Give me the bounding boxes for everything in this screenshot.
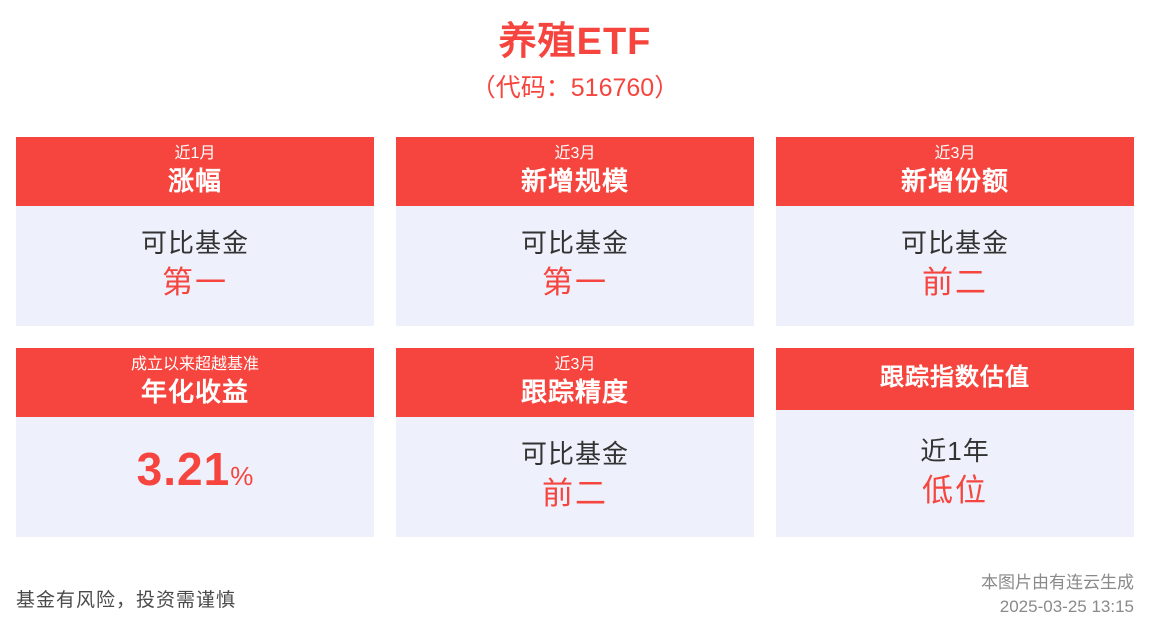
card-body-value: 前二 (396, 473, 754, 515)
card-header: 成立以来超越基准 年化收益 (16, 348, 374, 417)
generated-timestamp: 2025-03-25 13:15 (981, 595, 1134, 619)
card-body: 可比基金 第一 (396, 206, 754, 326)
card-header-metric: 涨幅 (16, 165, 374, 197)
etf-info-card: 养殖ETF （代码：516760） 近1月 涨幅 可比基金 第一 近3月 新增规… (0, 0, 1150, 632)
card-header-period: 成立以来超越基准 (16, 354, 374, 376)
card-header: 近3月 跟踪精度 (396, 348, 754, 417)
metric-card-monthly-gain: 近1月 涨幅 可比基金 第一 (16, 137, 374, 326)
card-body: 可比基金 第一 (16, 206, 374, 326)
card-body-percent: 3.21% (16, 439, 374, 511)
card-header-metric: 新增份额 (776, 165, 1134, 197)
card-header: 跟踪指数估值 (776, 348, 1134, 410)
card-header-metric: 跟踪指数估值 (776, 361, 1134, 395)
card-body-number: 3.21 (137, 443, 231, 495)
card-body-label: 近1年 (776, 432, 1134, 470)
card-header-period: 近3月 (396, 354, 754, 376)
card-body: 可比基金 前二 (396, 417, 754, 537)
card-body-label: 可比基金 (16, 224, 374, 262)
card-body-label: 可比基金 (776, 224, 1134, 262)
metric-card-new-scale: 近3月 新增规模 可比基金 第一 (396, 137, 754, 326)
footer-source-block: 本图片由有连云生成 2025-03-25 13:15 (981, 571, 1134, 619)
card-body: 3.21% (16, 417, 374, 537)
source-text: 本图片由有连云生成 (981, 571, 1134, 595)
risk-disclaimer: 基金有风险，投资需谨慎 (16, 585, 236, 612)
fund-code: （代码：516760） (0, 68, 1150, 108)
card-body-value: 前二 (776, 262, 1134, 304)
card-header: 近3月 新增规模 (396, 137, 754, 206)
card-body-value: 第一 (396, 262, 754, 304)
card-header-period: 近3月 (776, 143, 1134, 165)
card-body-label: 可比基金 (396, 435, 754, 473)
card-header: 近1月 涨幅 (16, 137, 374, 206)
card-body-value: 第一 (16, 262, 374, 304)
card-header-period: 近3月 (396, 143, 754, 165)
percent-symbol: % (230, 461, 253, 491)
header: 养殖ETF （代码：516760） (0, 0, 1150, 108)
page-title: 养殖ETF (0, 18, 1150, 66)
card-header-metric: 新增规模 (396, 165, 754, 197)
card-body-label: 可比基金 (396, 224, 754, 262)
metric-card-tracking-accuracy: 近3月 跟踪精度 可比基金 前二 (396, 348, 754, 537)
card-header: 近3月 新增份额 (776, 137, 1134, 206)
card-body: 近1年 低位 (776, 410, 1134, 537)
metric-card-index-valuation: 跟踪指数估值 近1年 低位 (776, 348, 1134, 537)
metric-card-annualized-return: 成立以来超越基准 年化收益 3.21% (16, 348, 374, 537)
card-body-value: 低位 (776, 470, 1134, 512)
card-body: 可比基金 前二 (776, 206, 1134, 326)
metric-card-grid: 近1月 涨幅 可比基金 第一 近3月 新增规模 可比基金 第一 近3月 新增份额 (16, 137, 1134, 537)
card-header-period: 近1月 (16, 143, 374, 165)
card-header-metric: 年化收益 (16, 376, 374, 408)
metric-card-new-shares: 近3月 新增份额 可比基金 前二 (776, 137, 1134, 326)
card-header-metric: 跟踪精度 (396, 376, 754, 408)
